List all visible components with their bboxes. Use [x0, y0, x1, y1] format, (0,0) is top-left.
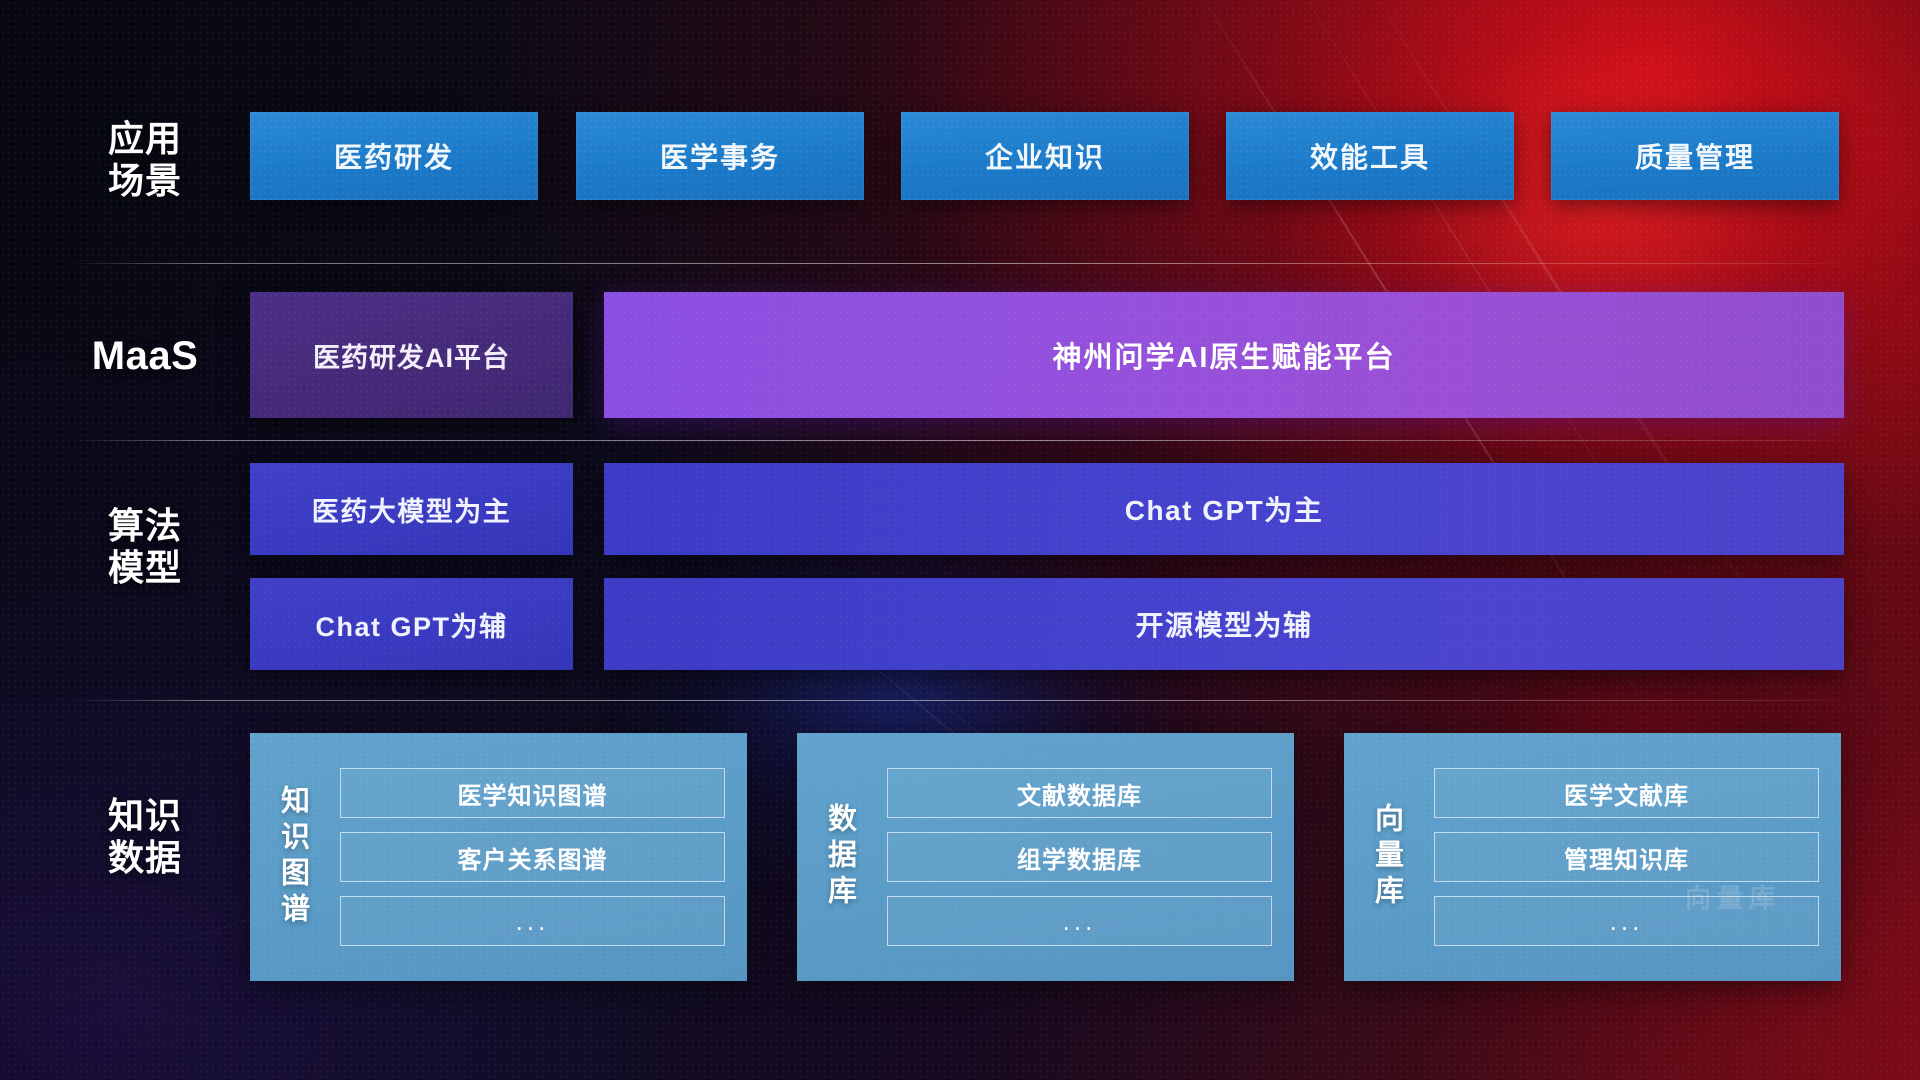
- divider-application-maas: [70, 263, 1850, 264]
- knowledge-item[interactable]: 组学数据库: [887, 832, 1272, 882]
- knowledge-panel-vertical-label: 知识图谱: [250, 733, 334, 981]
- knowledge-item-more[interactable]: ...: [340, 896, 725, 946]
- knowledge-panel-item-list: 医学文献库 管理知识库 ...: [1428, 733, 1841, 981]
- architecture-diagram-slide: 应用 场景 医药研发 医学事务 企业知识 效能工具 质量管理 MaaS 医药研发…: [0, 0, 1920, 1080]
- divider-maas-algorithm: [70, 440, 1850, 441]
- algo-box-chatgpt-secondary[interactable]: Chat GPT为辅: [250, 578, 573, 670]
- maas-box-shenzhou-wenxue-platform[interactable]: 神州问学AI原生赋能平台: [604, 292, 1844, 418]
- app-box-enterprise-knowledge[interactable]: 企业知识: [901, 112, 1189, 200]
- knowledge-panel-database[interactable]: 数据库 文献数据库 组学数据库 ...: [797, 733, 1294, 981]
- knowledge-panel-item-list: 文献数据库 组学数据库 ...: [881, 733, 1294, 981]
- knowledge-panel-item-list: 医学知识图谱 客户关系图谱 ...: [334, 733, 747, 981]
- app-box-label: 效能工具: [1310, 136, 1430, 176]
- algo-box-label: 医药大模型为主: [312, 490, 512, 529]
- knowledge-item[interactable]: 医学文献库: [1434, 768, 1819, 818]
- row-label-application: 应用 场景: [70, 118, 220, 203]
- algo-box-label: 开源模型为辅: [1135, 604, 1312, 644]
- knowledge-panel-vertical-label: 数据库: [797, 733, 881, 981]
- app-box-label: 质量管理: [1635, 136, 1755, 176]
- row-label-application-line1: 应用: [70, 118, 220, 160]
- row-label-algorithm-line1: 算法: [70, 505, 220, 547]
- knowledge-panel-vertical-label: 向量库: [1344, 733, 1428, 981]
- maas-box-label: 医药研发AI平台: [313, 336, 510, 375]
- row-label-maas: MaaS: [70, 333, 220, 380]
- knowledge-item-more[interactable]: ...: [1434, 896, 1819, 946]
- app-box-label: 企业知识: [985, 136, 1105, 176]
- app-box-efficiency-tools[interactable]: 效能工具: [1226, 112, 1514, 200]
- algo-box-chatgpt-primary[interactable]: Chat GPT为主: [604, 463, 1844, 555]
- row-label-algorithm: 算法 模型: [70, 505, 220, 590]
- row-label-application-line2: 场景: [70, 160, 220, 202]
- algo-box-pharma-llm-primary[interactable]: 医药大模型为主: [250, 463, 573, 555]
- knowledge-item[interactable]: 管理知识库: [1434, 832, 1819, 882]
- row-label-knowledge-line2: 数据: [70, 837, 220, 879]
- maas-box-label: 神州问学AI原生赋能平台: [1052, 334, 1395, 376]
- knowledge-panel-vector-store[interactable]: 向量库 医学文献库 管理知识库 ... 向量库: [1344, 733, 1841, 981]
- app-box-label: 医学事务: [660, 136, 780, 176]
- row-label-algorithm-line2: 模型: [70, 547, 220, 589]
- algo-box-label: Chat GPT为辅: [315, 605, 507, 644]
- app-box-label: 医药研发: [334, 136, 454, 176]
- row-label-knowledge: 知识 数据: [70, 795, 220, 880]
- app-box-quality-management[interactable]: 质量管理: [1551, 112, 1839, 200]
- knowledge-item[interactable]: 客户关系图谱: [340, 832, 725, 882]
- app-box-medical-affairs[interactable]: 医学事务: [576, 112, 864, 200]
- knowledge-item[interactable]: 医学知识图谱: [340, 768, 725, 818]
- divider-algorithm-knowledge: [70, 700, 1850, 701]
- algo-box-opensource-secondary[interactable]: 开源模型为辅: [604, 578, 1844, 670]
- maas-box-pharma-ai-platform[interactable]: 医药研发AI平台: [250, 292, 573, 418]
- knowledge-item[interactable]: 文献数据库: [887, 768, 1272, 818]
- knowledge-item-more[interactable]: ...: [887, 896, 1272, 946]
- app-box-medicine-rd[interactable]: 医药研发: [250, 112, 538, 200]
- diagram-content: 应用 场景 医药研发 医学事务 企业知识 效能工具 质量管理 MaaS 医药研发…: [0, 0, 1920, 1080]
- knowledge-panel-knowledge-graph[interactable]: 知识图谱 医学知识图谱 客户关系图谱 ...: [250, 733, 747, 981]
- row-label-maas-text: MaaS: [70, 333, 220, 380]
- algo-box-label: Chat GPT为主: [1125, 489, 1324, 529]
- row-label-knowledge-line1: 知识: [70, 795, 220, 837]
